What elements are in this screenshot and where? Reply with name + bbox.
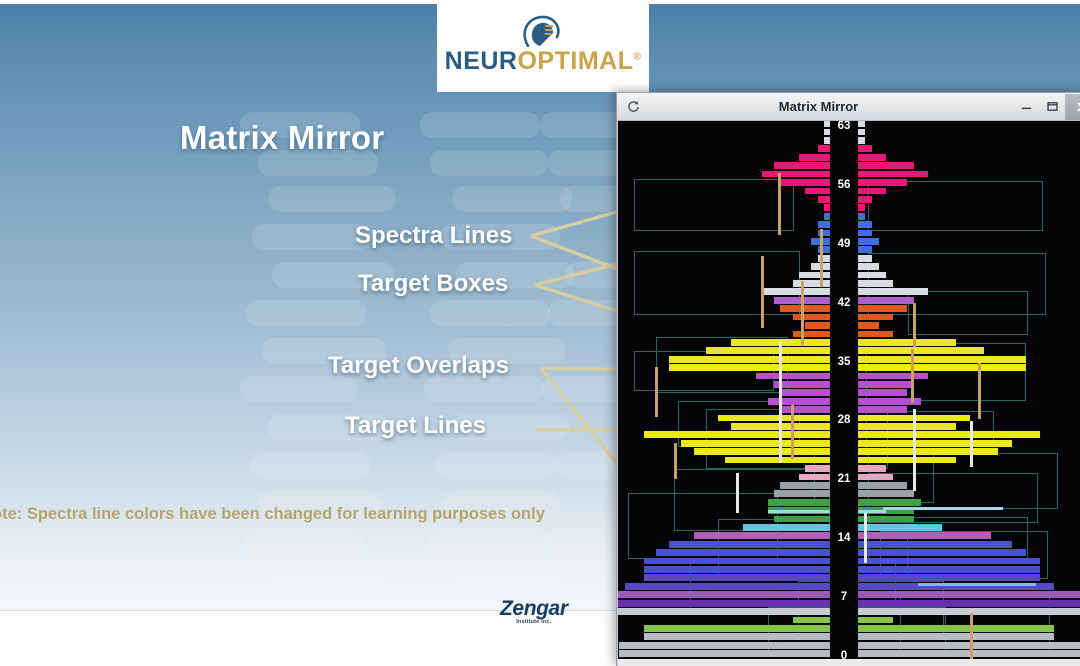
spectra-bar <box>818 196 830 203</box>
spectra-bar <box>780 179 830 186</box>
spectra-bar <box>858 171 928 178</box>
spectra-bar <box>725 457 830 464</box>
spectra-bar <box>858 600 1080 607</box>
spectra-bar <box>644 574 830 581</box>
target-line-marker <box>779 341 782 463</box>
spectra-bar <box>618 608 830 615</box>
spectra-bar <box>858 188 886 195</box>
spectra-bar <box>858 129 865 136</box>
spectra-bar <box>858 373 928 380</box>
spectra-bar <box>858 204 865 211</box>
spectra-bar <box>774 490 830 497</box>
spectra-bar <box>799 272 830 279</box>
spectra-bar <box>858 566 1040 573</box>
spectra-bar <box>858 162 914 169</box>
spectra-bar <box>858 532 991 539</box>
spectra-bar <box>858 558 1040 565</box>
spectra-bar <box>858 288 928 295</box>
spectra-bar <box>780 482 830 489</box>
target-overlap-marker <box>768 510 886 513</box>
neuroptimal-logo: NEUROPTIMAL® <box>437 0 649 92</box>
spectra-bar <box>669 356 830 363</box>
target-box <box>908 291 1028 335</box>
spectra-bar <box>774 162 830 169</box>
axis-tick-label: 35 <box>830 356 858 368</box>
matrix-mirror-window[interactable]: Matrix Mirror <box>616 92 1080 666</box>
target-line <box>674 443 677 479</box>
spectra-bar <box>858 608 1080 615</box>
spectra-bar <box>858 263 879 270</box>
spectra-bar <box>858 364 1026 371</box>
logo-word-secondary: OPTIMAL <box>517 47 633 75</box>
spectra-bar <box>858 541 1012 548</box>
target-line-marker <box>970 421 973 467</box>
spectra-bar <box>774 516 830 523</box>
spectra-bar <box>805 465 830 472</box>
spectra-bar <box>706 347 830 354</box>
spectra-bar <box>858 617 893 624</box>
spectra-bar <box>768 499 830 506</box>
spectra-bar <box>858 145 872 152</box>
spectra-bar <box>644 625 830 632</box>
spectra-bar <box>858 574 1040 581</box>
spectra-bar <box>669 364 830 371</box>
spectra-bar <box>858 448 998 455</box>
spectra-bar <box>858 331 893 338</box>
spectra-bar <box>858 356 1026 363</box>
spectra-bar <box>858 272 886 279</box>
spectra-bar <box>858 213 865 220</box>
spectra-bar <box>858 474 893 481</box>
spectra-bar <box>858 121 865 127</box>
spectra-bar <box>644 431 830 438</box>
minimize-button[interactable] <box>1013 94 1039 120</box>
presentation-slide: NEUROPTIMAL® Matrix Mirror Spectra Lines… <box>0 0 1080 666</box>
spectra-bar <box>858 196 872 203</box>
axis-tick-label: 14 <box>830 532 858 544</box>
axis-tick-label: 28 <box>830 414 858 426</box>
spectra-bar <box>858 339 956 346</box>
target-line-marker <box>913 409 916 491</box>
spectra-bar <box>858 650 1080 657</box>
spectra-bar <box>762 171 830 178</box>
spectra-bar <box>858 499 921 506</box>
target-line-marker <box>864 511 867 563</box>
matrix-mirror-chart[interactable]: 071421283542495663 <box>618 121 1080 666</box>
target-box <box>634 251 800 315</box>
target-line-marker <box>736 473 739 513</box>
spectra-bar <box>768 398 830 405</box>
spectra-bar <box>858 246 872 253</box>
spectra-bar <box>858 305 907 312</box>
frequency-axis: 071421283542495663 <box>830 121 858 659</box>
callout-label-target-lines: Target Lines <box>345 412 486 440</box>
axis-tick-label: 63 <box>830 121 858 132</box>
maximize-button[interactable] <box>1039 94 1065 120</box>
close-button[interactable] <box>1065 94 1080 120</box>
spectra-bar <box>619 642 830 649</box>
target-line <box>801 281 804 345</box>
axis-tick-label: 0 <box>830 650 858 662</box>
spectra-bar <box>858 549 1026 556</box>
zengar-name: Zengar <box>500 598 568 619</box>
axis-tick-label: 56 <box>830 179 858 191</box>
spectra-bar <box>858 314 893 321</box>
target-overlap-marker <box>883 507 1003 510</box>
spectra-bar <box>858 347 984 354</box>
spectra-bar <box>793 314 830 321</box>
spectra-bar <box>858 221 872 228</box>
axis-tick-label: 49 <box>830 238 858 250</box>
target-line <box>791 405 794 459</box>
spectra-bar <box>858 431 1040 438</box>
spectra-bar <box>805 188 830 195</box>
spectra-bar <box>762 288 830 295</box>
spectra-bar <box>718 415 830 422</box>
note-text: ote: Spectra line colors have been chang… <box>0 505 545 524</box>
spectra-bar <box>743 524 830 531</box>
target-line <box>913 303 916 347</box>
target-line <box>778 173 781 235</box>
target-box <box>634 179 794 231</box>
spectra-bar <box>805 322 830 329</box>
axis-tick-label: 42 <box>830 297 858 309</box>
window-titlebar[interactable]: Matrix Mirror <box>617 93 1080 121</box>
spectra-bar <box>858 322 879 329</box>
zengar-logo: Zengar Institute Inc. <box>500 598 568 626</box>
spectra-bar <box>858 389 907 396</box>
callout-label-spectra-lines: Spectra Lines <box>355 222 512 250</box>
spectra-bar <box>694 448 830 455</box>
spectra-bar <box>818 221 830 228</box>
spectra-bar <box>799 474 830 481</box>
spectra-bar <box>858 406 907 413</box>
logo-wordmark: NEUROPTIMAL® <box>445 49 642 74</box>
spectra-bar <box>818 145 830 152</box>
target-box <box>868 181 1043 231</box>
spectra-bar <box>858 591 1080 598</box>
spectra-bar <box>858 154 886 161</box>
spectra-bar <box>858 482 907 489</box>
spectra-bar <box>858 457 956 464</box>
target-line <box>655 367 658 417</box>
spectra-bar <box>619 650 830 657</box>
logo-word-primary: NEUR <box>445 47 518 75</box>
callout-label-target-overlaps: Target Overlaps <box>328 352 509 380</box>
spectra-bar <box>793 280 830 287</box>
spectra-bar <box>858 465 886 472</box>
zengar-subtitle: Institute Inc. <box>500 620 568 626</box>
spectra-bar <box>858 490 914 497</box>
spectra-bar <box>756 373 830 380</box>
spectra-bar <box>656 549 830 556</box>
spectra-bar <box>774 381 830 388</box>
spectra-bar <box>858 255 872 262</box>
registered-mark: ® <box>633 52 641 63</box>
spectra-bar <box>780 389 830 396</box>
spectra-bar <box>644 633 830 640</box>
spectra-bar <box>618 600 830 607</box>
spectra-bar <box>858 297 914 304</box>
target-line <box>978 363 981 419</box>
spectra-bar <box>858 524 942 531</box>
spectra-bar <box>858 423 956 430</box>
target-line <box>911 349 914 403</box>
axis-tick-label: 7 <box>830 591 858 603</box>
page-title: Matrix Mirror <box>180 119 384 157</box>
target-overlap-marker <box>918 583 1036 586</box>
spectra-bar <box>858 280 893 287</box>
callout-label-target-boxes: Target Boxes <box>358 270 508 298</box>
spectra-bar <box>681 440 830 447</box>
spectra-bar <box>644 566 830 573</box>
spectra-bar <box>858 381 914 388</box>
spectra-bar <box>669 541 830 548</box>
spectra-bar <box>793 331 830 338</box>
spectra-bar <box>694 532 830 539</box>
spectra-bar <box>858 179 907 186</box>
spectra-bar <box>858 642 1080 649</box>
spectra-bar <box>858 137 865 144</box>
target-line <box>761 256 764 328</box>
axis-tick-label: 21 <box>830 473 858 485</box>
spectra-bar <box>625 583 830 590</box>
spectra-bar <box>780 406 830 413</box>
spectra-bar <box>858 238 879 245</box>
target-line <box>820 229 823 287</box>
spectra-bar <box>858 440 1012 447</box>
spectra-bar <box>793 617 830 624</box>
spectra-bar <box>780 305 830 312</box>
head-profile-icon <box>520 13 566 47</box>
window-title: Matrix Mirror <box>624 99 1013 114</box>
spectra-bar <box>858 625 1054 632</box>
spectra-bar <box>799 154 830 161</box>
spectra-bar <box>618 591 830 598</box>
spectra-bar <box>644 558 830 565</box>
spectra-bar <box>858 230 872 237</box>
spectra-bar <box>858 633 1054 640</box>
